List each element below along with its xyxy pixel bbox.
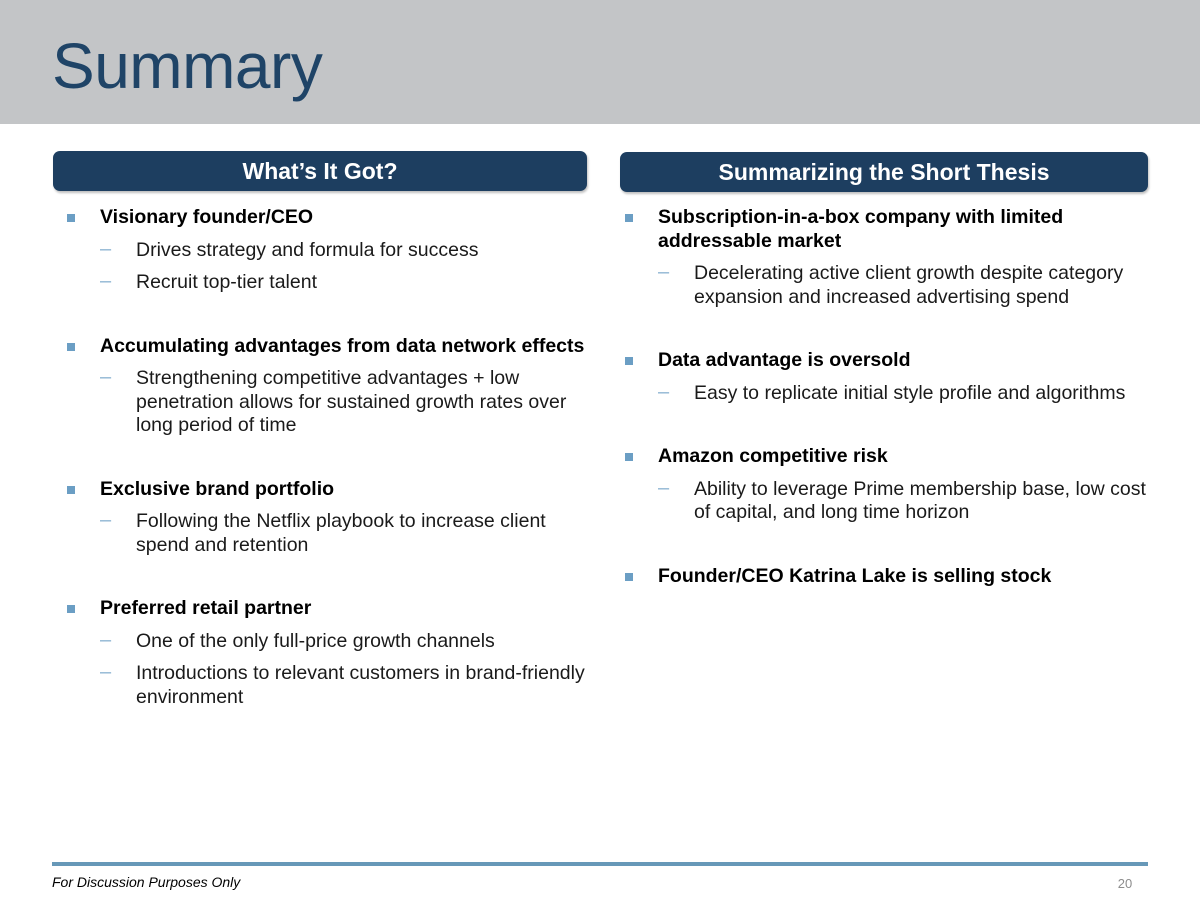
bullet-heading: Founder/CEO Katrina Lake is selling stoc… [618,565,1158,589]
column-header-whats-it-got: What’s It Got? [53,151,587,191]
footer-disclaimer: For Discussion Purposes Only [52,874,240,890]
square-bullet-icon [625,214,633,222]
bullet-group: Exclusive brand portfolio – Following th… [60,478,590,558]
sub-bullet-label: Ability to leverage Prime membership bas… [694,478,1146,524]
bullet-heading-label: Preferred retail partner [100,597,311,619]
bullet-heading: Visionary founder/CEO [60,206,590,230]
sub-bullet: – Decelerating active client growth desp… [618,262,1158,309]
sub-bullet: – Introductions to relevant customers in… [60,662,590,709]
square-bullet-icon [67,214,75,222]
bullet-heading: Exclusive brand portfolio [60,478,590,502]
column-header-short-thesis: Summarizing the Short Thesis [620,152,1148,192]
sub-bullet-label: One of the only full-price growth channe… [136,630,495,652]
bullet-heading-label: Visionary founder/CEO [100,206,313,228]
sub-bullet-label: Strengthening competitive advantages + l… [136,367,566,436]
column-left: Visionary founder/CEO – Drives strategy … [60,206,590,709]
sub-bullet: – One of the only full-price growth chan… [60,630,590,654]
bullet-heading: Data advantage is oversold [618,349,1158,373]
bullet-group: Preferred retail partner – One of the on… [60,597,590,709]
square-bullet-icon [67,605,75,613]
bullet-heading-label: Exclusive brand portfolio [100,478,334,500]
dash-bullet-icon: – [100,629,116,653]
sub-bullet-label: Drives strategy and formula for success [136,239,478,261]
sub-bullet-label: Decelerating active client growth despit… [694,262,1123,308]
dash-bullet-icon: – [100,366,116,390]
sub-bullet-label: Following the Netflix playbook to increa… [136,510,546,556]
sub-bullet: – Following the Netflix playbook to incr… [60,510,590,557]
sub-bullet-label: Recruit top-tier talent [136,271,317,293]
dash-bullet-icon: – [100,661,116,685]
bullet-group: Visionary founder/CEO – Drives strategy … [60,206,590,295]
bullet-heading-label: Accumulating advantages from data networ… [100,335,584,357]
bullet-heading: Accumulating advantages from data networ… [60,335,590,359]
dash-bullet-icon: – [658,477,674,501]
square-bullet-icon [625,453,633,461]
dash-bullet-icon: – [100,238,116,262]
column-right: Subscription-in-a-box company with limit… [618,206,1158,597]
square-bullet-icon [625,357,633,365]
bullet-heading: Amazon competitive risk [618,445,1158,469]
footer-divider [52,862,1148,866]
bullet-heading-label: Data advantage is oversold [658,349,911,371]
bullet-group: Data advantage is oversold – Easy to rep… [618,349,1158,405]
column-header-label: Summarizing the Short Thesis [719,159,1050,186]
sub-bullet-label: Easy to replicate initial style profile … [694,382,1125,404]
sub-bullet: – Strengthening competitive advantages +… [60,367,590,438]
sub-bullet-label: Introductions to relevant customers in b… [136,662,585,708]
sub-bullet: – Drives strategy and formula for succes… [60,239,590,263]
sub-bullet: – Ability to leverage Prime membership b… [618,478,1158,525]
page-title: Summary [52,29,322,103]
bullet-group: Subscription-in-a-box company with limit… [618,206,1158,309]
bullet-heading-label: Founder/CEO Katrina Lake is selling stoc… [658,565,1051,587]
square-bullet-icon [625,573,633,581]
square-bullet-icon [67,486,75,494]
dash-bullet-icon: – [100,270,116,294]
bullet-heading: Subscription-in-a-box company with limit… [618,206,1158,253]
bullet-group: Accumulating advantages from data networ… [60,335,590,438]
sub-bullet: – Easy to replicate initial style profil… [618,382,1158,406]
bullet-group: Amazon competitive risk – Ability to lev… [618,445,1158,525]
bullet-heading: Preferred retail partner [60,597,590,621]
dash-bullet-icon: – [658,261,674,285]
bullet-heading-label: Subscription-in-a-box company with limit… [658,206,1063,252]
page-number: 20 [1105,876,1145,891]
bullet-group: Founder/CEO Katrina Lake is selling stoc… [618,565,1158,589]
sub-bullet: – Recruit top-tier talent [60,271,590,295]
dash-bullet-icon: – [658,381,674,405]
dash-bullet-icon: – [100,509,116,533]
column-header-label: What’s It Got? [242,158,397,185]
square-bullet-icon [67,343,75,351]
bullet-heading-label: Amazon competitive risk [658,445,888,467]
